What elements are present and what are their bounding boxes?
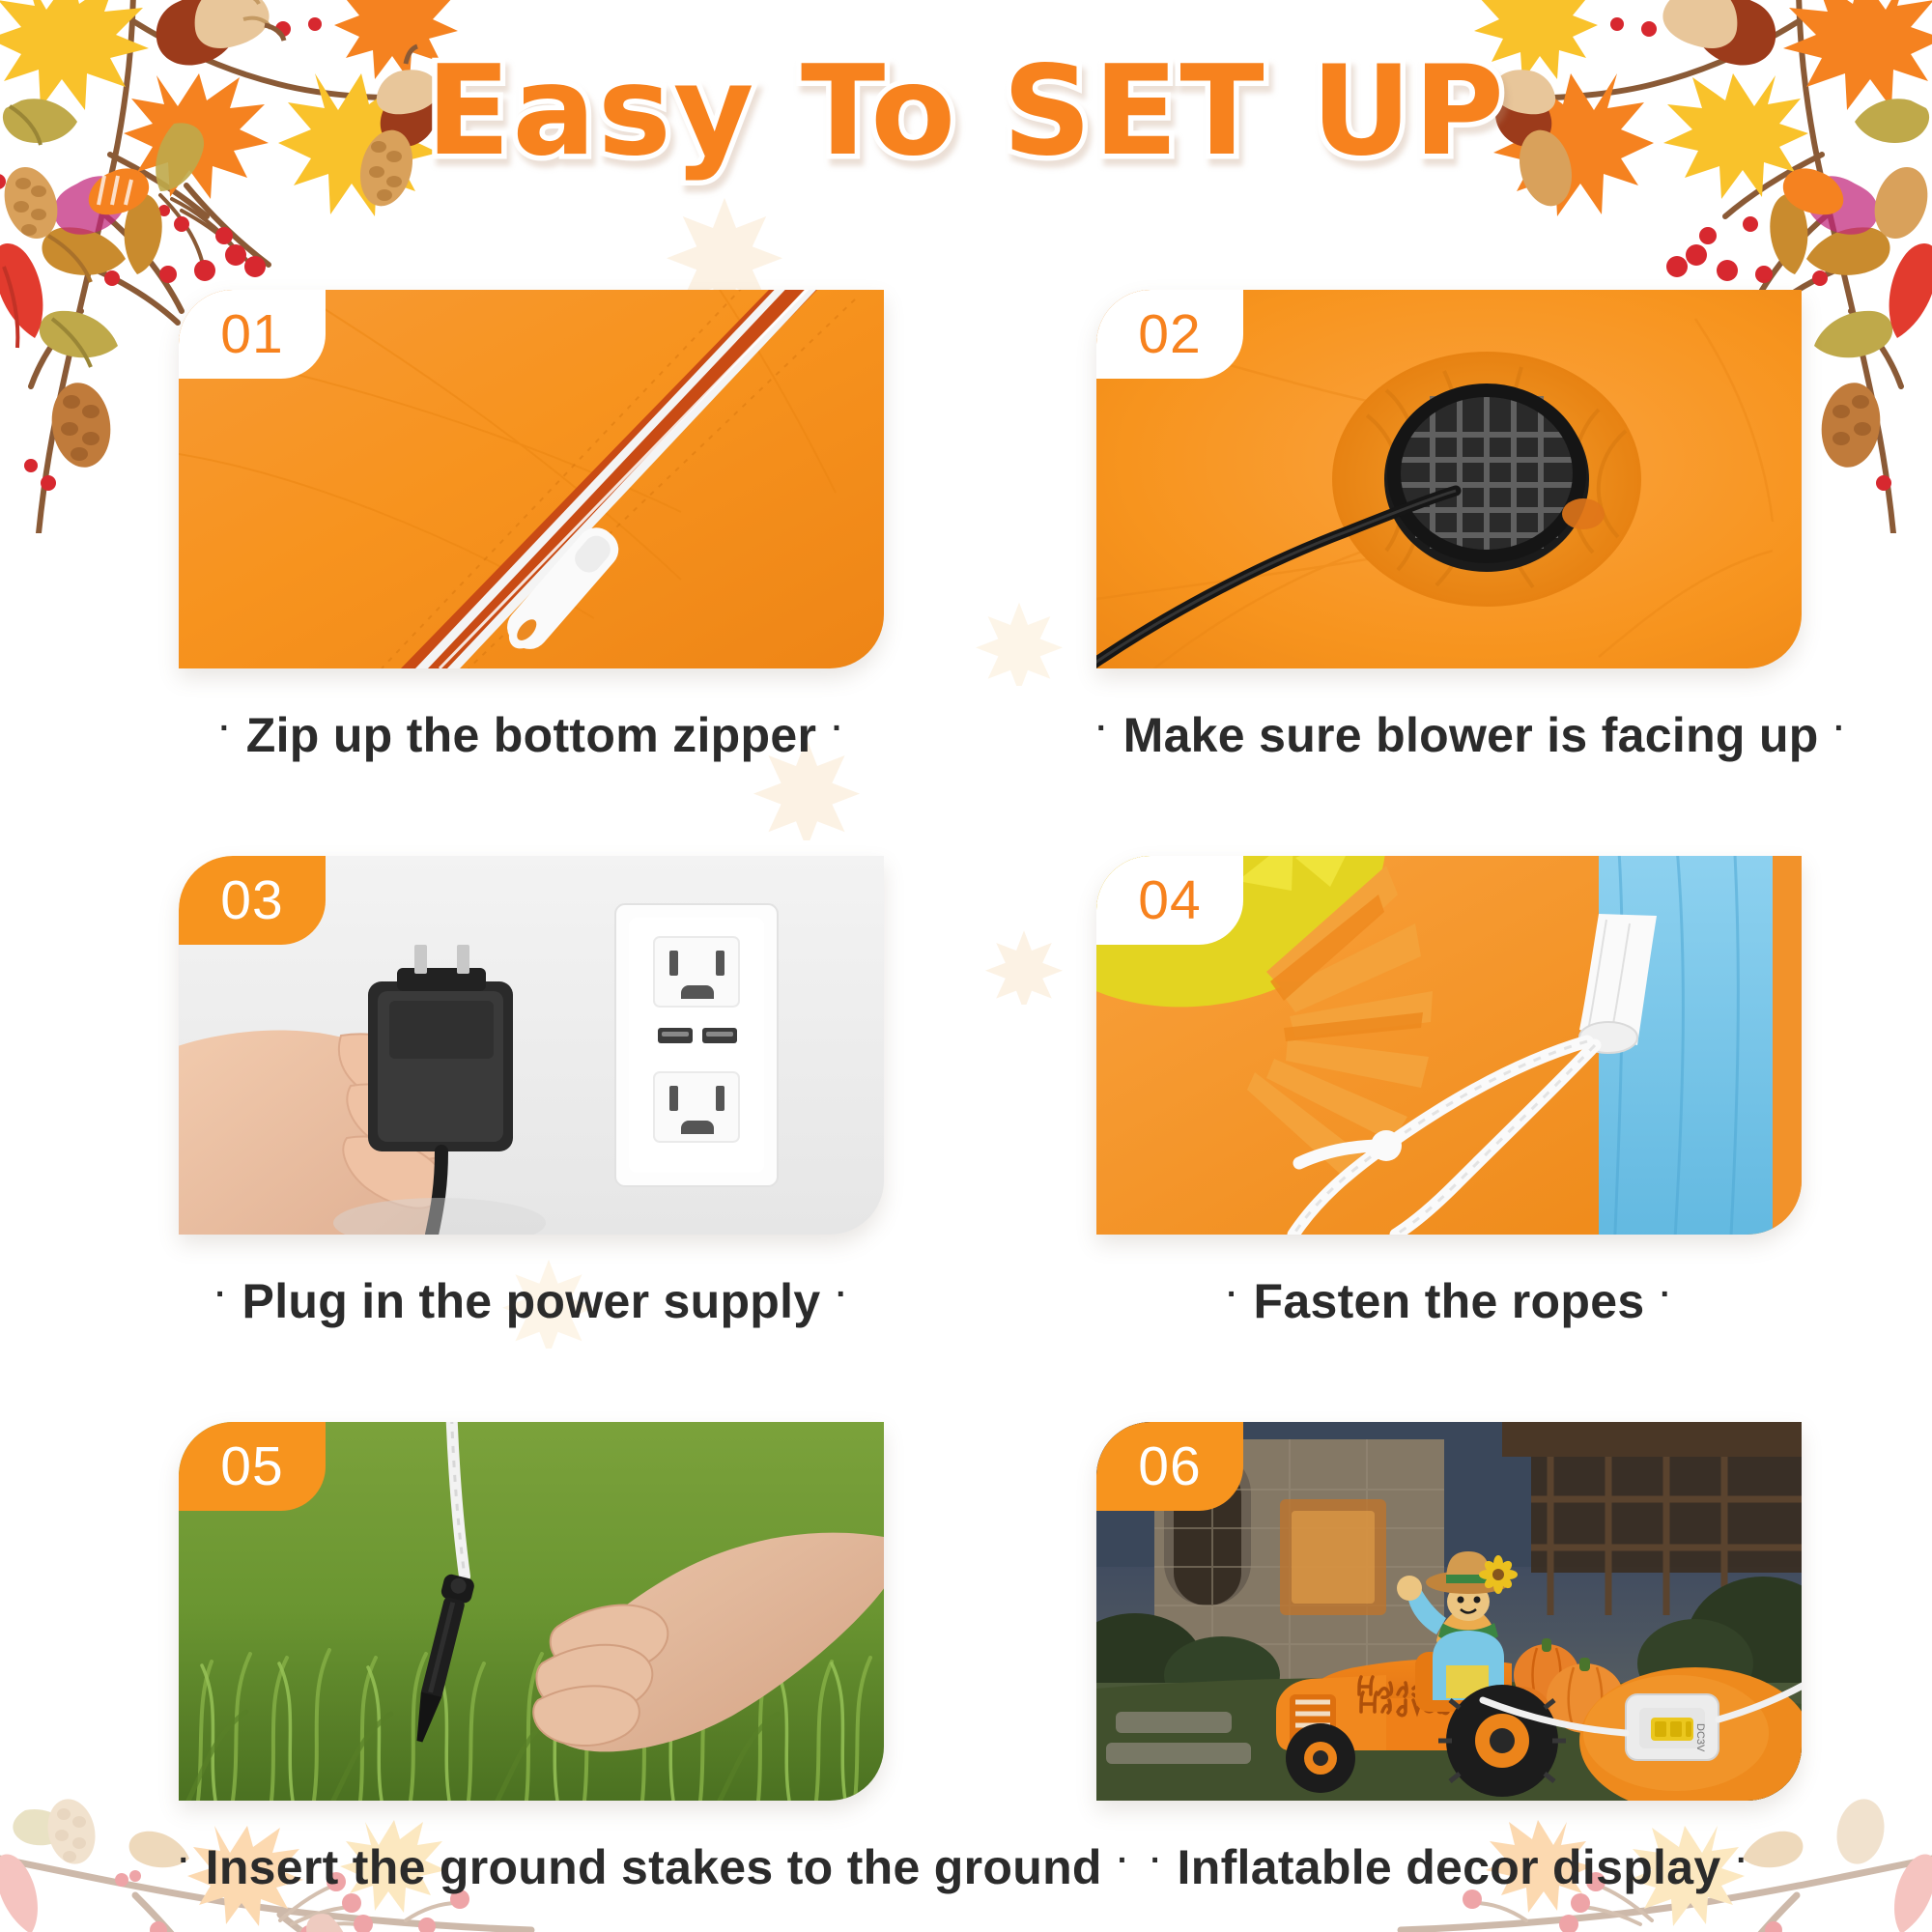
step-caption-04: ·Fasten the ropes· [1096, 1273, 1802, 1329]
caption-bullet-left: · [1096, 710, 1108, 748]
step-badge-05: 05 [179, 1422, 326, 1511]
step-badge-02: 02 [1096, 290, 1243, 379]
step-caption-05: ·Insert the ground stakes to the ground· [179, 1839, 884, 1895]
blower-facing-up-photo: 02 [1096, 290, 1802, 668]
inflatable-decor-display-photo: DC3V 06 [1096, 1422, 1802, 1801]
caption-bullet-right: · [1736, 1842, 1747, 1880]
caption-bullet-left: · [1227, 1276, 1238, 1314]
step-card-01: 01 ·Zip up the bottom zipper· [179, 290, 884, 763]
infographic-page: Easy To SET UP [0, 0, 1932, 1932]
page-title-container: Easy To SET UP [0, 46, 1932, 178]
step-card-03: 03 ·Plug in the power supply· [179, 856, 884, 1329]
caption-bullet-left: · [1151, 1842, 1162, 1880]
page-title: Easy To SET UP [426, 46, 1506, 178]
caption-bullet-left: · [215, 1276, 227, 1314]
caption-bullet-left: · [179, 1842, 190, 1880]
ground-stakes-photo: 05 [179, 1422, 884, 1801]
caption-bullet-left: · [219, 710, 231, 748]
caption-bullet-right: · [832, 710, 843, 748]
step-caption-02: ·Make sure blower is facing up· [1096, 707, 1802, 763]
step-caption-01: ·Zip up the bottom zipper· [179, 707, 884, 763]
setup-steps-grid: 01 ·Zip up the bottom zipper· [179, 290, 1802, 1895]
step-caption-text-02: Make sure blower is facing up [1123, 708, 1819, 762]
step-card-02: 02 ·Make sure blower is facing up· [1096, 290, 1802, 763]
step-badge-01: 01 [179, 290, 326, 379]
caption-bullet-right: · [836, 1276, 847, 1314]
step-caption-06: ·Inflatable decor display· [1096, 1839, 1802, 1895]
caption-bullet-right: · [1834, 710, 1846, 748]
step-badge-06: 06 [1096, 1422, 1243, 1511]
step-card-06: DC3V 06 ·Inflatable decor display· [1096, 1422, 1802, 1895]
step-caption-text-03: Plug in the power supply [242, 1274, 821, 1328]
step-badge-04: 04 [1096, 856, 1243, 945]
step-caption-text-05: Insert the ground stakes to the ground [206, 1840, 1102, 1894]
step-caption-text-06: Inflatable decor display [1178, 1840, 1721, 1894]
fasten-ropes-photo: 04 [1096, 856, 1802, 1235]
power-supply-plug-photo: 03 [179, 856, 884, 1235]
step-caption-text-04: Fasten the ropes [1254, 1274, 1645, 1328]
step-badge-03: 03 [179, 856, 326, 945]
step-card-05: 05 ·Insert the ground stakes to the grou… [179, 1422, 884, 1895]
caption-bullet-right: · [1660, 1276, 1671, 1314]
step-caption-text-01: Zip up the bottom zipper [246, 708, 816, 762]
step-caption-03: ·Plug in the power supply· [179, 1273, 884, 1329]
zipper-closeup-photo: 01 [179, 290, 884, 668]
step-card-04: 04 ·Fasten the ropes· [1096, 856, 1802, 1329]
